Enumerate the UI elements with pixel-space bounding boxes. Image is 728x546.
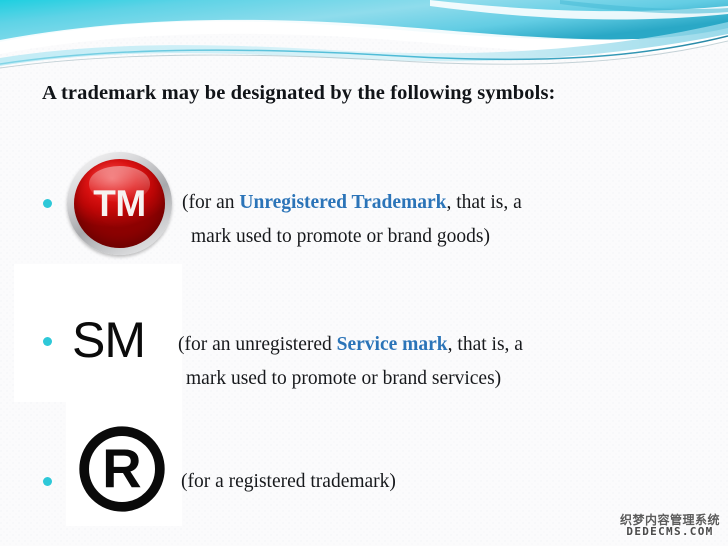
watermark-latin: DEDECMS.COM (620, 526, 720, 538)
tm-symbol-badge: TM (67, 152, 172, 255)
sm-symbol-glyph: SM (72, 315, 145, 365)
sm-line1-highlight: Service mark (337, 334, 448, 355)
tm-line2-pre: mark used to promote or brand goods) (191, 226, 490, 247)
bullet-tm (43, 199, 52, 208)
slide-title: A trademark may be designated by the fol… (42, 82, 712, 105)
slide-canvas: A trademark may be designated by the fol… (0, 0, 728, 546)
sm-line2-pre: mark used to promote or brand services) (186, 368, 501, 389)
dedecms-watermark: 织梦内容管理系统 DEDECMS.COM (620, 514, 720, 538)
r-description-line1: (for a registered trademark) (181, 465, 396, 499)
sm-line1-post: , that is, a (448, 334, 523, 355)
svg-text:R: R (102, 439, 141, 500)
tm-line1-pre: (for an (182, 192, 239, 213)
sm-line1-pre: (for an unregistered (178, 334, 337, 355)
tm-description-line2: mark used to promote or brand goods) (191, 220, 490, 254)
bullet-sm (43, 337, 52, 346)
tm-line1-highlight: Unregistered Trademark (239, 192, 446, 213)
bullet-r (43, 477, 52, 486)
tm-line1-post: , that is, a (446, 192, 521, 213)
sm-description-line2: mark used to promote or brand services) (186, 362, 501, 396)
teal-swoosh-banner (0, 0, 728, 78)
registered-r-symbol: R (78, 425, 166, 513)
sm-description-line1: (for an unregistered Service mark, that … (178, 328, 523, 362)
r-line1-pre: (for a registered trademark) (181, 471, 396, 492)
tm-description-line1: (for an Unregistered Trademark, that is,… (182, 186, 522, 220)
tm-badge-face: TM (74, 159, 165, 248)
tm-label: TM (93, 185, 145, 222)
